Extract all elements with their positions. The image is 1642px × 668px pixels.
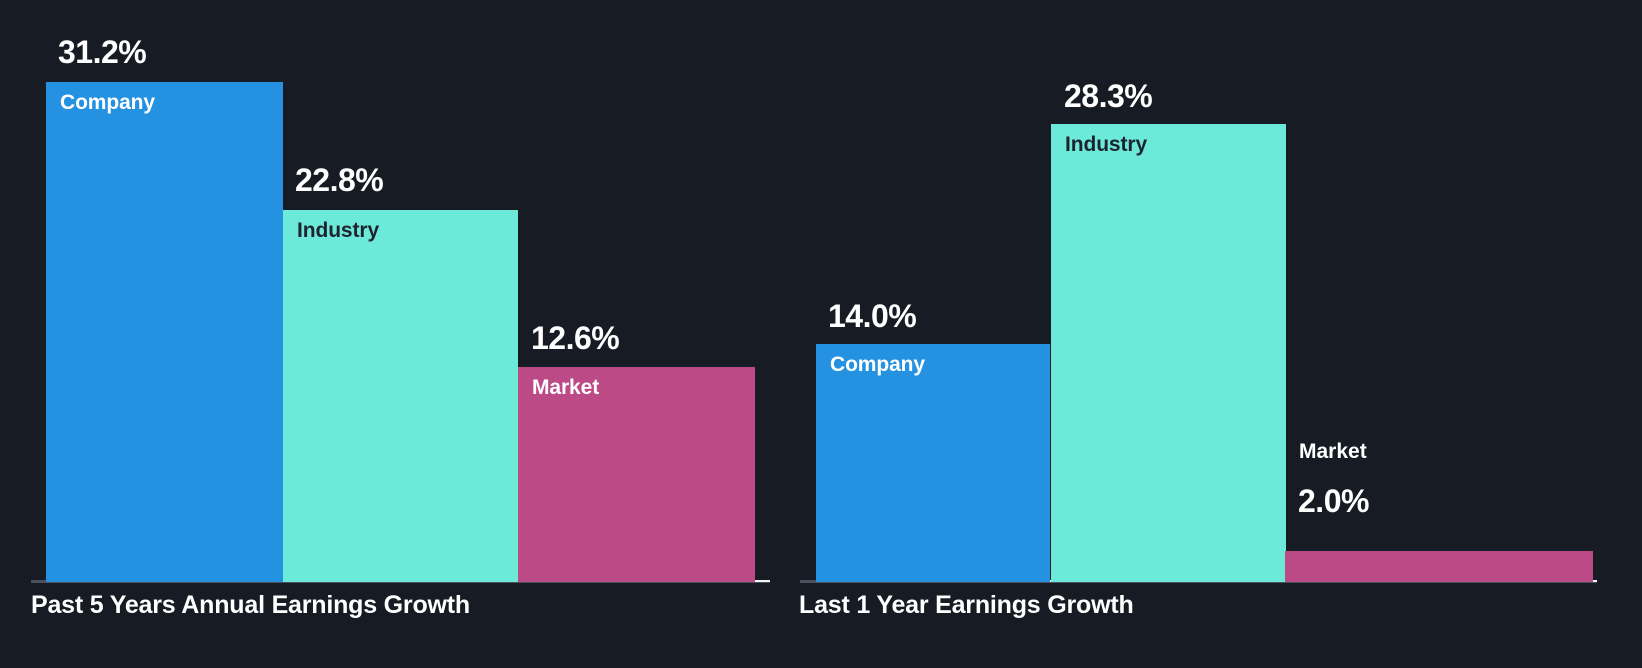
bar-value-market-right: 2.0%: [1298, 483, 1369, 520]
bar-label-company-right: Company: [830, 353, 925, 377]
bar-value-industry-right: 28.3%: [1064, 78, 1152, 115]
bar-label-industry-left: Industry: [297, 219, 379, 243]
chart-canvas: 31.2% Company 22.8% Industry 12.6% Marke…: [0, 0, 1642, 668]
chart-title-right: Last 1 Year Earnings Growth: [799, 591, 1134, 620]
bar-market-left[interactable]: Market: [518, 367, 755, 582]
bar-value-company-right: 14.0%: [828, 298, 916, 335]
bar-value-market-left: 12.6%: [531, 320, 619, 357]
chart-title-left: Past 5 Years Annual Earnings Growth: [31, 591, 470, 620]
panel-past-5-years: 31.2% Company 22.8% Industry 12.6% Marke…: [0, 0, 790, 668]
bar-label-industry-right: Industry: [1065, 133, 1147, 157]
bar-label-market-left: Market: [532, 376, 599, 400]
panel-last-1-year: 14.0% Company 28.3% Industry Market 2.0%…: [790, 0, 1642, 668]
bar-industry-left[interactable]: Industry: [283, 210, 518, 582]
bar-market-right[interactable]: [1285, 551, 1593, 582]
bar-company-right[interactable]: Company: [816, 344, 1050, 582]
bar-label-company-left: Company: [60, 91, 155, 115]
bar-industry-right[interactable]: Industry: [1051, 124, 1286, 582]
bar-value-industry-left: 22.8%: [295, 162, 383, 199]
bar-company-left[interactable]: Company: [46, 82, 283, 582]
bar-label-market-right: Market: [1299, 440, 1367, 464]
bar-value-company-left: 31.2%: [58, 34, 146, 71]
